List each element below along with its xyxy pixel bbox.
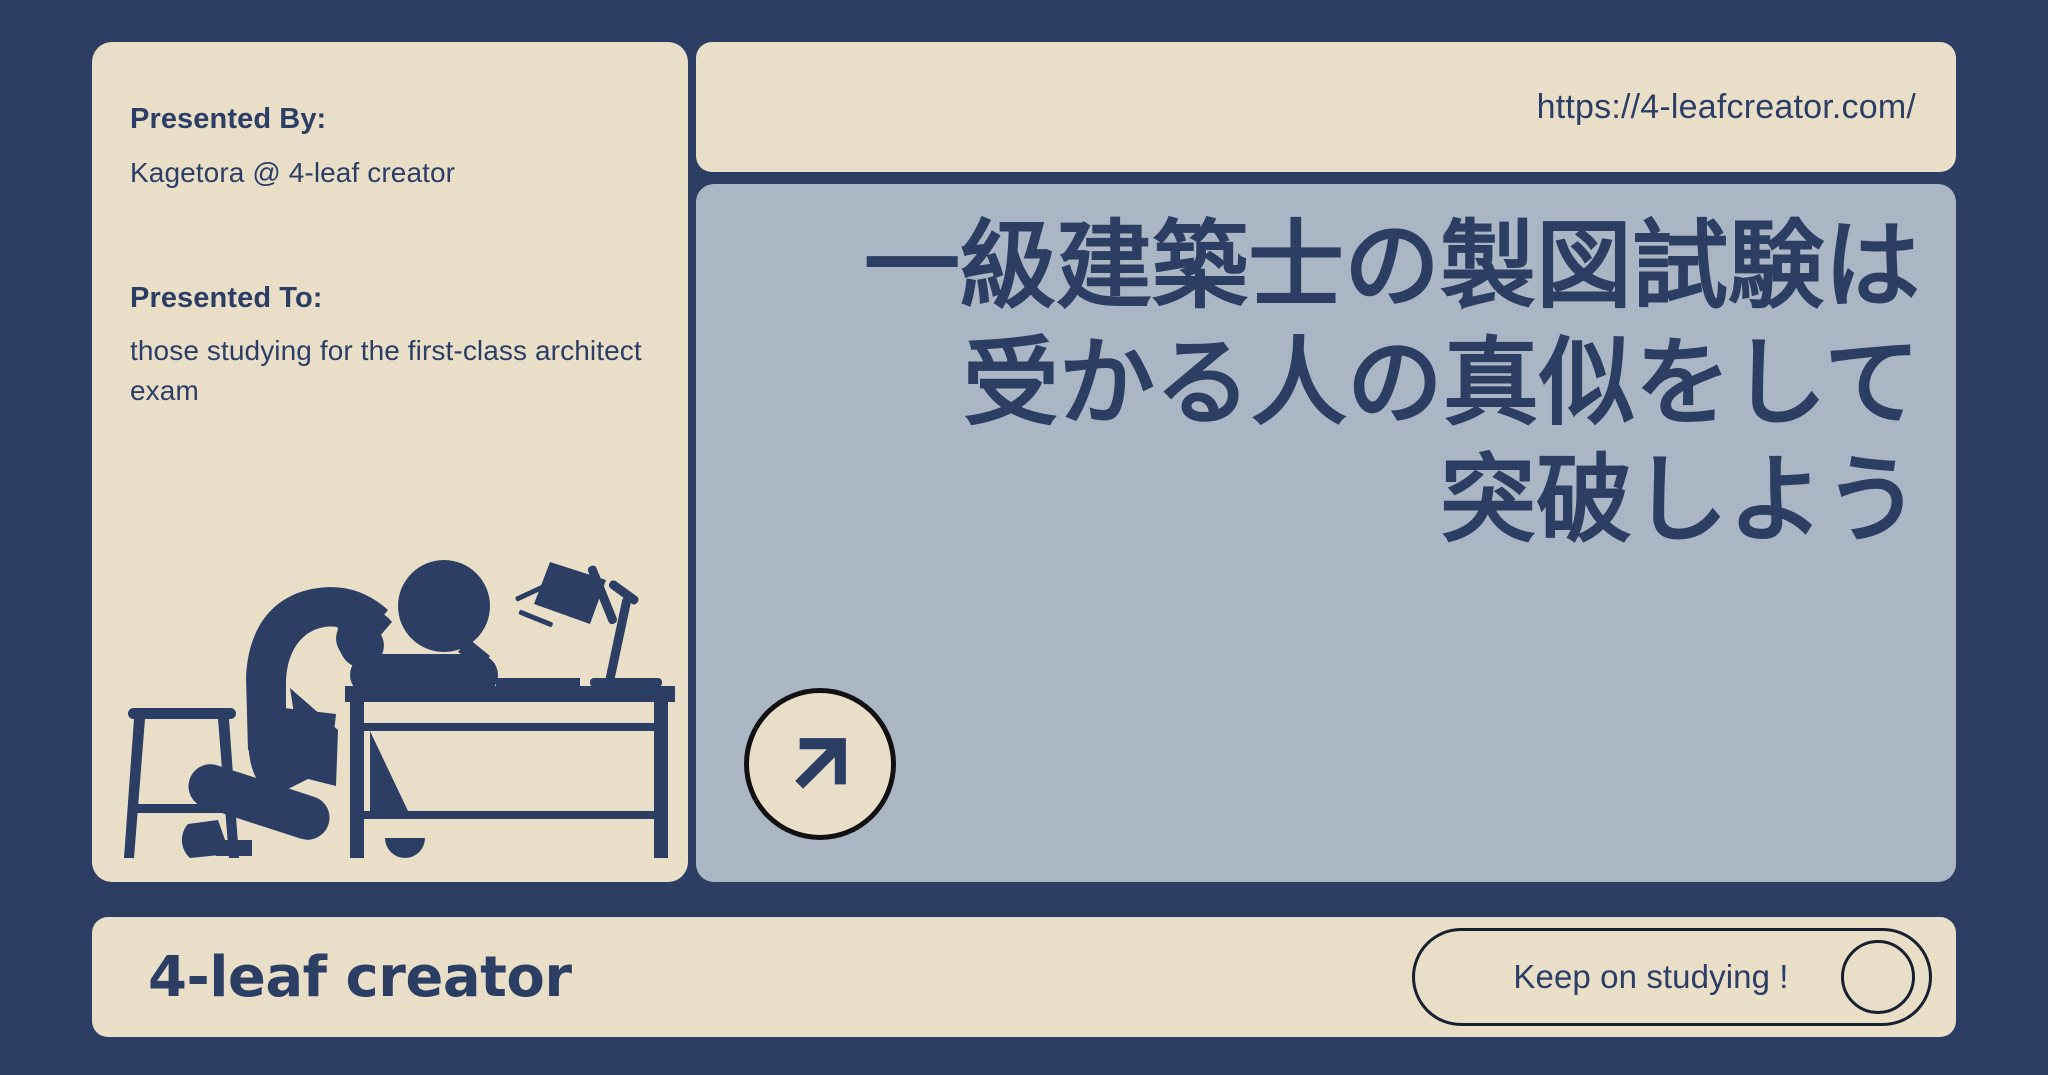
presenter-info-card: Presented By: Kagetora @ 4-leaf creator …	[92, 42, 688, 882]
spacer	[130, 193, 650, 281]
hero-title-line-3: 突破しよう	[730, 442, 1920, 559]
presented-to-label: Presented To:	[130, 281, 650, 316]
keep-on-studying-button[interactable]: Keep on studying !	[1412, 928, 1932, 1026]
presented-by-value: Kagetora @ 4-leaf creator	[130, 153, 650, 193]
url-bar[interactable]: https://4-leafcreator.com/	[696, 42, 1956, 172]
hero-title-line-1: 一級建築士の製図試験は	[730, 208, 1920, 325]
presented-to-value: those studying for the first-class archi…	[130, 331, 650, 411]
hero-title-line-2: 受かる人の真似をして	[730, 325, 1920, 442]
footer-bar: 4-leaf creator Keep on studying !	[92, 917, 1956, 1037]
arrow-up-right-button[interactable]	[744, 688, 896, 840]
arrow-up-right-icon	[783, 727, 857, 801]
hero-panel: 一級建築士の製図試験は 受かる人の真似をして 突破しよう	[696, 184, 1956, 882]
hero-line2-highlight: 真似	[1443, 325, 1635, 442]
slide-canvas: Presented By: Kagetora @ 4-leaf creator …	[0, 0, 2048, 1075]
hero-title: 一級建築士の製図試験は 受かる人の真似をして 突破しよう	[730, 208, 1920, 559]
cta-circle-icon	[1841, 940, 1915, 1014]
hero-line2-suffix: をして	[1635, 327, 1920, 439]
presented-by-label: Presented By:	[130, 102, 650, 137]
tired-student-at-desk-illustration	[98, 528, 682, 868]
hero-line2-prefix: 受かる人の	[963, 327, 1443, 439]
site-url[interactable]: https://4-leafcreator.com/	[1537, 88, 1916, 127]
cta-label: Keep on studying !	[1415, 958, 1841, 996]
brand-name: 4-leaf creator	[148, 945, 571, 1010]
